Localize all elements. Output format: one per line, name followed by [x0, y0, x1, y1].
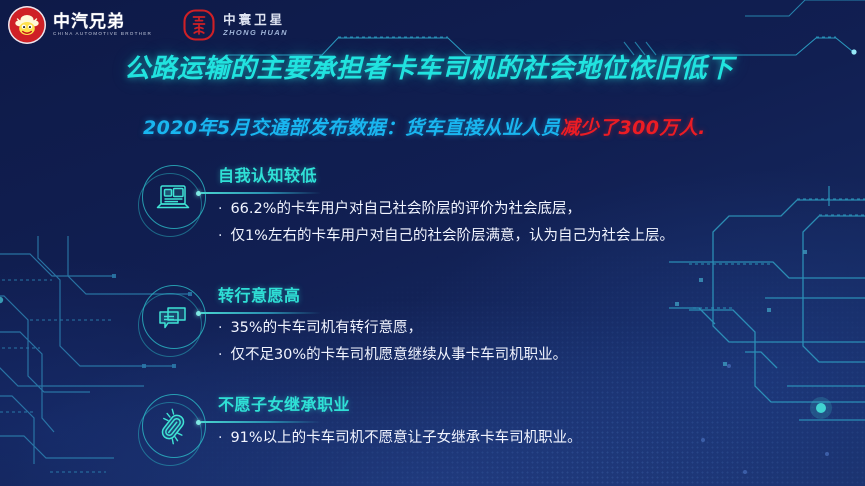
brand-logo-zhonghuan[interactable]: 中寰卫星 ZHONG HUAN — [182, 8, 288, 42]
section-heading: 自我认知较低 — [218, 167, 674, 185]
top-right-circuit-decoration — [745, 0, 865, 40]
list-item: · 仅1%左右的卡车用户对自己的社会阶层满意，认为自己为社会上层。 — [218, 229, 674, 244]
right-circuit-decoration — [669, 186, 865, 486]
bullet-text: 66.2%的卡车用户对自己社会阶层的评价为社会底层， — [230, 202, 581, 217]
brand-zh-name: 中寰卫星 — [223, 14, 288, 27]
section-content: 自我认知较低 · 66.2%的卡车用户对自己社会阶层的评价为社会底层， · 仅1… — [218, 163, 674, 257]
section-content: 转行意愿高 · 35%的卡车司机有转行意愿， · 仅不足30%的卡车司机愿意继续… — [218, 283, 567, 376]
section-career-change: 转行意愿高 · 35%的卡车司机有转行意愿， · 仅不足30%的卡车司机愿意继续… — [136, 283, 567, 376]
bullet-list: · 35%的卡车司机有转行意愿， · 仅不足30%的卡车司机愿意继续从事卡车司机… — [218, 321, 567, 363]
brand-cab-name: 中汽兄弟 — [53, 14, 152, 31]
section-heading: 不愿子女继承职业 — [218, 396, 582, 414]
bullet-list: · 91%以上的卡车司机不愿意让子女继承卡车司机职业。 — [218, 431, 582, 446]
section-self-perception: 自我认知较低 · 66.2%的卡车用户对自己社会阶层的评价为社会底层， · 仅1… — [136, 163, 674, 257]
section-badge — [136, 392, 212, 468]
page-subtitle: 2020年5月交通部发布数据：货车直接从业人员减少了300万人. — [143, 113, 706, 140]
chat-bubbles-icon — [154, 299, 192, 337]
bullet-text: 仅不足30%的卡车司机愿意继续从事卡车司机职业。 — [230, 348, 567, 363]
zhonghuan-seal-icon — [182, 8, 216, 42]
mascot-seal-icon — [8, 6, 46, 44]
bullet-text: 91%以上的卡车司机不愿意让子女继承卡车司机职业。 — [230, 431, 581, 446]
bullet-marker: · — [218, 431, 222, 445]
list-item: · 91%以上的卡车司机不愿意让子女继承卡车司机职业。 — [218, 431, 582, 446]
bullet-list: · 66.2%的卡车用户对自己社会阶层的评价为社会底层， · 仅1%左右的卡车用… — [218, 202, 674, 244]
connector-line — [201, 312, 321, 314]
list-item: · 66.2%的卡车用户对自己社会阶层的评价为社会底层， — [218, 202, 674, 217]
bullet-text: 35%的卡车司机有转行意愿， — [230, 321, 422, 336]
page-title: 公路运输的主要承担者卡车司机的社会地位依旧低下 — [124, 48, 734, 85]
bullet-marker: · — [218, 202, 222, 216]
section-heading: 转行意愿高 — [218, 287, 567, 305]
heading-connector — [196, 308, 336, 318]
laptop-icon — [154, 179, 192, 217]
section-succession: 不愿子女继承职业 · 91%以上的卡车司机不愿意让子女继承卡车司机职业。 — [136, 392, 582, 468]
slide-canvas: 中汽兄弟 CHINA AUTOMOTIVE BROTHER 中寰卫星 — [0, 0, 865, 486]
bullet-marker: · — [218, 348, 222, 362]
list-item: · 仅不足30%的卡车司机愿意继续从事卡车司机职业。 — [218, 348, 567, 363]
brand-cab-subname: CHINA AUTOMOTIVE BROTHER — [53, 32, 152, 37]
section-badge — [136, 163, 212, 239]
heading-connector — [196, 417, 336, 427]
connector-line — [201, 421, 321, 423]
connector-line — [201, 192, 321, 194]
bullet-marker: · — [218, 321, 222, 335]
subtitle-prefix: 2020年5月交通部发布数据：货车直接从业人员 — [143, 117, 560, 139]
subtitle-highlight: 减少了300万人. — [560, 117, 705, 139]
bullet-marker: · — [218, 229, 222, 243]
section-content: 不愿子女继承职业 · 91%以上的卡车司机不愿意让子女继承卡车司机职业。 — [218, 392, 582, 458]
brand-logo-cab[interactable]: 中汽兄弟 CHINA AUTOMOTIVE BROTHER — [8, 6, 152, 44]
section-badge — [136, 283, 212, 359]
heading-connector — [196, 188, 336, 198]
bullet-text: 仅1%左右的卡车用户对自己的社会阶层满意，认为自己为社会上层。 — [230, 229, 674, 244]
brand-zh-subname: ZHONG HUAN — [223, 29, 288, 37]
fingerprint-icon — [154, 408, 192, 446]
logo-bar: 中汽兄弟 CHINA AUTOMOTIVE BROTHER 中寰卫星 — [8, 6, 288, 44]
list-item: · 35%的卡车司机有转行意愿， — [218, 321, 567, 336]
